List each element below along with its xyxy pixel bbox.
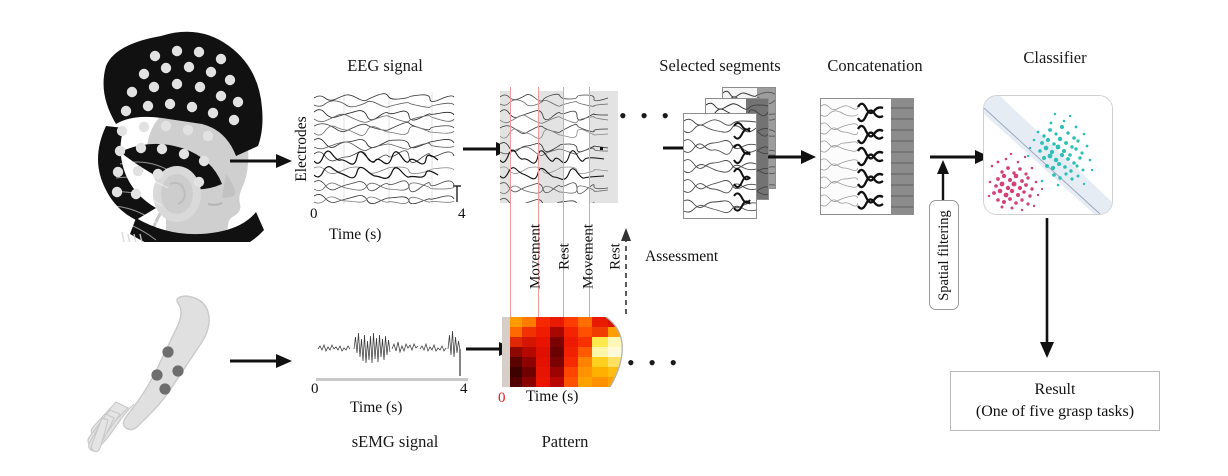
assessment-arrow (618, 228, 634, 314)
arrow-head-to-eeg (230, 152, 292, 170)
pattern-title: Pattern (500, 432, 630, 452)
result-line-1: Result (1035, 379, 1076, 401)
electrodes-axis-label: Electrodes (293, 99, 311, 199)
pipeline-diagram: EEG signal Electrodes (0, 0, 1228, 476)
selected-segments-title: Selected segments (630, 56, 810, 76)
semg-signal-title: sEMG signal (310, 432, 480, 452)
segments-ellipsis: • • • (619, 105, 673, 127)
assessment-label: Assessment (645, 248, 718, 266)
arrow-spatial-filtering-up (935, 160, 951, 202)
semg-time-axis-line (316, 378, 468, 381)
eeg-tick-4: 4 (458, 206, 466, 223)
semg-time-axis-label: Time (s) (350, 399, 402, 417)
forearm (88, 296, 209, 452)
eeg-cap-head-illustration (58, 14, 273, 242)
arrow-selected-to-concat (768, 148, 816, 166)
result-box: Result (One of five grasp tasks) (950, 371, 1160, 431)
pattern-time-axis-label: Time (s) (526, 388, 578, 406)
semg-tick-0: 0 (311, 381, 319, 398)
hand (88, 402, 128, 452)
semg-arm-illustration (62, 292, 238, 460)
pattern-ellipsis: • • • (627, 352, 681, 374)
selected-segment-card-front (683, 113, 757, 219)
result-line-2: (One of five grasp tasks) (976, 401, 1134, 423)
spatial-filtering-block[interactable]: Spatial filtering (929, 200, 959, 310)
eeg-signal-title: EEG signal (300, 56, 470, 76)
classifier-title: Classifier (985, 48, 1125, 68)
heatmap-cells (502, 317, 624, 387)
classifier-scatter-plot[interactable] (983, 95, 1113, 215)
concatenation-plot (820, 98, 914, 215)
semg-signal-plot (316, 318, 468, 380)
pattern-tick-0: 0 (498, 390, 506, 407)
segmented-eeg-plot (500, 91, 618, 203)
spatial-filtering-label: Spatial filtering (936, 210, 953, 301)
arrow-arm-to-semg (230, 352, 292, 370)
eeg-signal-plot (314, 92, 464, 204)
eeg-tick-0: 0 (310, 206, 318, 223)
concatenation-title: Concatenation (800, 56, 950, 76)
eeg-time-axis-label: Time (s) (329, 226, 381, 244)
pattern-heatmap (502, 317, 630, 387)
arrow-classifier-to-result (1038, 218, 1056, 358)
semg-tick-4: 4 (460, 381, 468, 398)
